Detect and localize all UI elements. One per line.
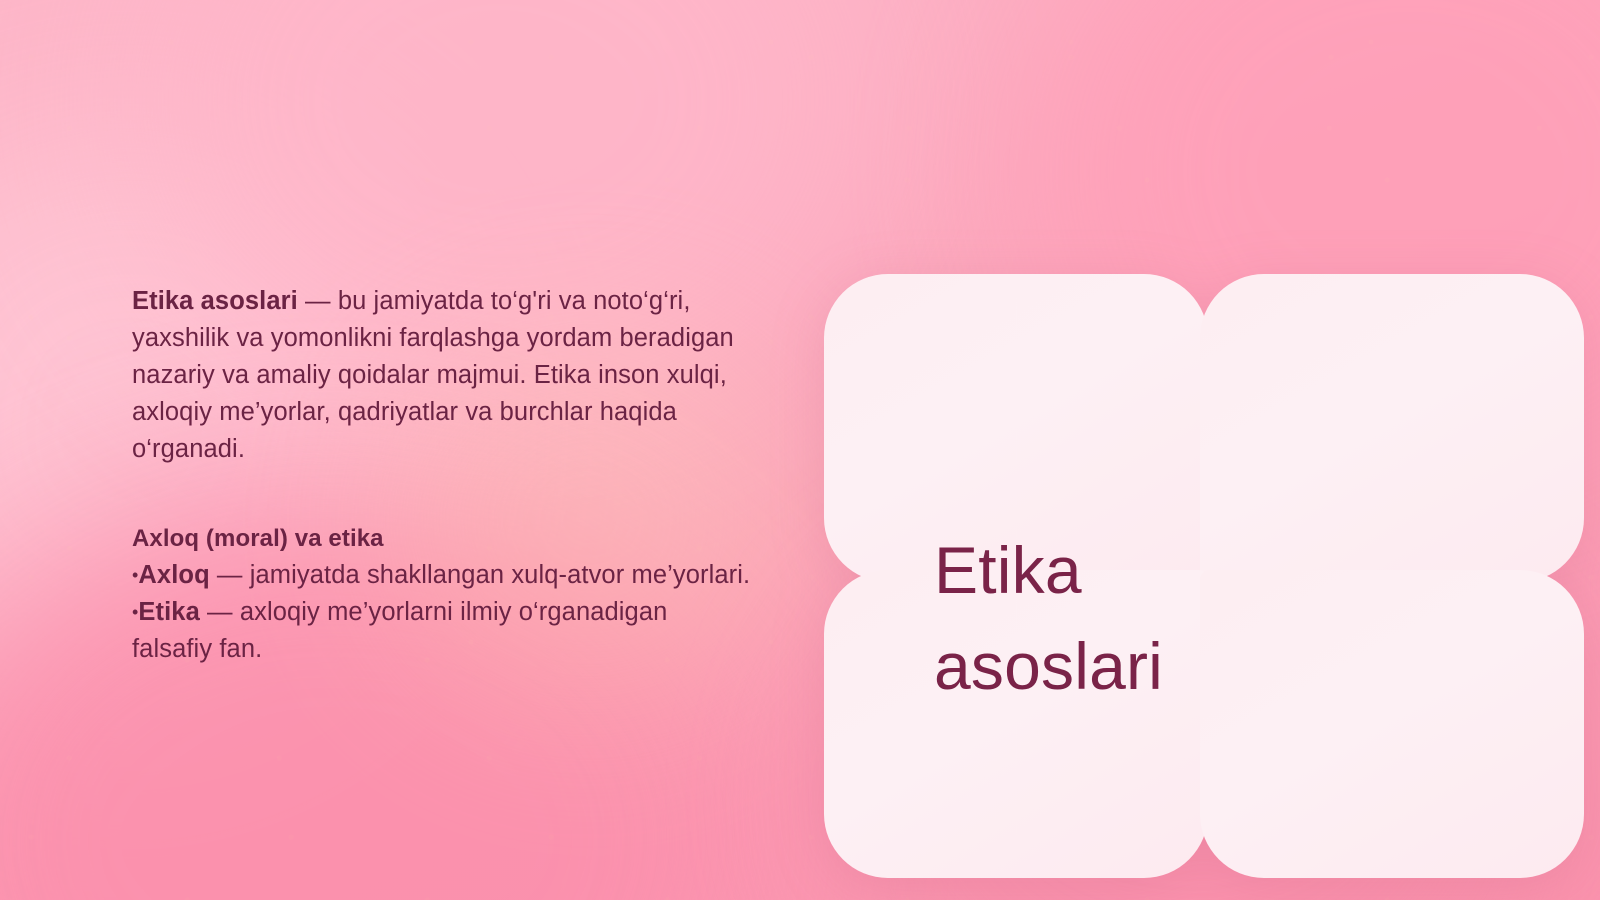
- body-text-column: Etika asoslari — bu jamiyatda to‘g'ri va…: [132, 283, 752, 668]
- list-item: •Axloq — jamiyatda shakllangan xulq-atvo…: [132, 557, 752, 594]
- definition-lead-term: Etika asoslari: [132, 287, 298, 315]
- clover-card: Etika asoslari: [824, 274, 1584, 878]
- slide-title: Etika asoslari: [934, 522, 1354, 714]
- list-item: •Etika — axloqiy me’yorlarni ilmiy o‘rga…: [132, 594, 752, 668]
- definition-paragraph: Etika asoslari — bu jamiyatda to‘g'ri va…: [132, 283, 752, 468]
- paragraph-spacer: [132, 468, 752, 520]
- slide-canvas: Etika asoslari — bu jamiyatda to‘g'ri va…: [0, 0, 1600, 900]
- bullet-term: Axloq: [138, 561, 209, 589]
- section-heading: Axloq (moral) va etika: [132, 520, 752, 557]
- bullet-term: Etika: [138, 598, 199, 626]
- bullet-definition: — jamiyatda shakllangan xulq-atvor me’yo…: [210, 561, 750, 589]
- bullet-definition: — axloqiy me’yorlarni ilmiy o‘rganadigan…: [132, 598, 667, 663]
